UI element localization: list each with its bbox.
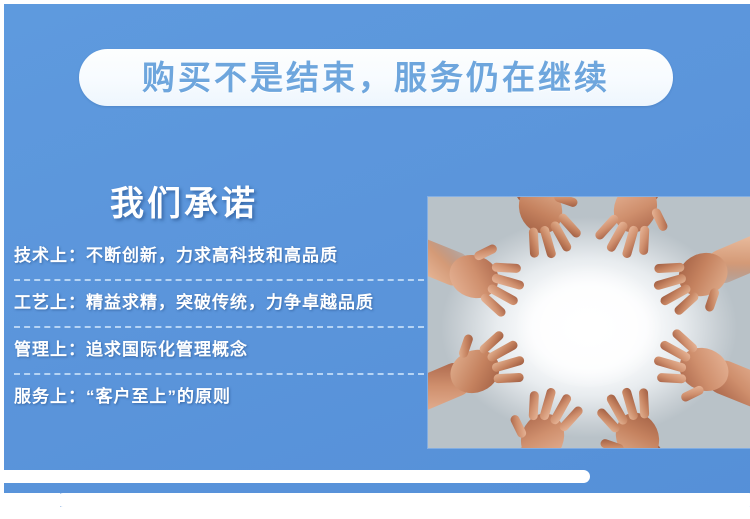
- promise-list: 技术上：不断创新，力求高科技和高品质 工艺上：精益求精，突破传统，力争卓越品质 …: [14, 245, 424, 420]
- list-item: 工艺上：精益求精，突破传统，力争卓越品质: [14, 292, 424, 328]
- left-margin: [0, 0, 4, 519]
- decor-rail-lower-cap: [0, 493, 60, 507]
- promise-block: 我们承诺 技术上：不断创新，力求高科技和高品质 工艺上：精益求精，突破传统，力争…: [14, 186, 424, 431]
- decor-rail-upper: [0, 470, 590, 483]
- headline-text: 购买不是结束，服务仍在继续: [142, 61, 610, 94]
- top-margin: [0, 0, 750, 4]
- headline-pill: 购买不是结束，服务仍在继续: [79, 49, 673, 106]
- teamwork-photo: [428, 197, 750, 448]
- list-item: 管理上：追求国际化管理概念: [14, 339, 424, 375]
- list-item: 技术上：不断创新，力求高科技和高品质: [14, 245, 424, 281]
- section-title: 我们承诺: [110, 186, 424, 223]
- list-item: 服务上：“客户至上”的原则: [14, 386, 424, 420]
- decor-rail-lower: [56, 493, 750, 507]
- promo-banner: 购买不是结束，服务仍在继续 我们承诺 技术上：不断创新，力求高科技和高品质 工艺…: [0, 0, 750, 519]
- bottom-margin: [0, 507, 750, 519]
- hands-circle-illustration: [428, 197, 750, 448]
